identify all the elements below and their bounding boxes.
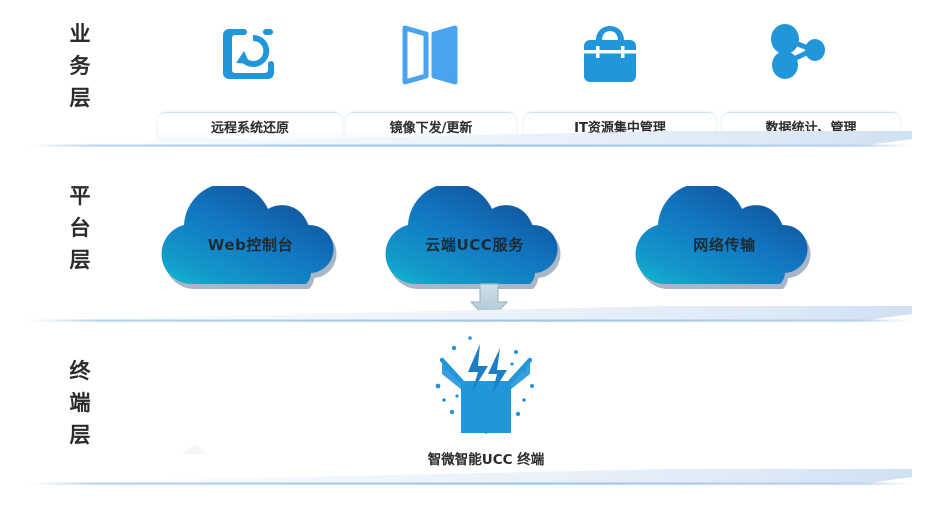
business-tab-it-resource[interactable]: IT资源集中管理 [524,112,716,140]
open-box-lightning-icon [424,334,548,442]
layer-label-platform-char-3: 层 [57,244,103,276]
layer-label-business-char-2: 务 [57,50,103,82]
cloud-web-console[interactable]: Web控制台 [138,186,363,294]
layer-label-platform-char-2: 台 [57,212,103,244]
layer-label-platform-char-1: 平 [57,180,103,212]
share-network-icon [758,14,834,90]
layer-label-terminal-char-2: 端 [57,387,103,419]
mirror-panels-icon [392,16,468,92]
business-tab-data-statistics[interactable]: 数据统计、管理 [722,112,900,140]
cloud-web-console-label: Web控制台 [138,234,363,255]
business-tab-image-deploy-label: 镜像下发/更新 [390,117,473,136]
business-tab-remote-restore-label: 远程系统还原 [211,117,289,136]
layer-label-terminal-char-1: 终 [57,355,103,387]
business-tab-it-resource-label: IT资源集中管理 [574,117,666,136]
layer-label-terminal-char-3: 层 [57,419,103,451]
briefcase-icon [572,16,648,92]
architecture-diagram: 业 务 层 [0,0,937,512]
layer-label-business-char-3: 层 [57,82,103,114]
cloud-ucc-service[interactable]: 云端UCC服务 [362,186,587,294]
cloud-network-transport[interactable]: 网络传输 [612,186,837,294]
business-tab-image-deploy[interactable]: 镜像下发/更新 [346,112,516,140]
business-tab-remote-restore[interactable]: 远程系统还原 [158,112,342,140]
layer-label-terminal: 终 端 层 [57,355,103,451]
layer-label-business: 业 务 层 [57,18,103,114]
layer-divider-bottom [28,466,912,492]
terminal-device-label: 智微智能UCC 终端 [378,448,594,468]
layer-label-business-char-1: 业 [57,18,103,50]
layer-label-platform: 平 台 层 [57,180,103,276]
cloud-network-transport-label: 网络传输 [612,234,837,255]
restore-document-icon [212,16,288,92]
business-tab-data-statistics-label: 数据统计、管理 [765,117,856,136]
cloud-ucc-service-label: 云端UCC服务 [362,234,587,255]
down-arrow-icon [466,282,512,322]
background-artifact [168,436,226,458]
